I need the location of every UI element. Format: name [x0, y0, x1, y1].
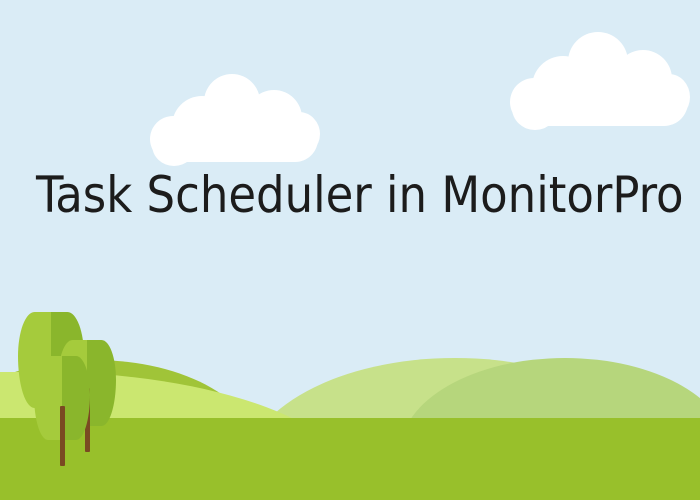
round-tree-icon — [34, 356, 90, 466]
title-slide: Task Scheduler in MonitorPro — [0, 0, 700, 500]
cloud-left-icon — [150, 68, 320, 163]
cloud-right-icon — [510, 28, 690, 126]
tree-trunk — [60, 406, 65, 466]
tree-foliage — [62, 356, 90, 440]
page-title: Task Scheduler in MonitorPro — [36, 166, 676, 224]
cloud-puff — [278, 112, 320, 156]
cloud-puff — [648, 74, 690, 120]
tree-foliage — [87, 340, 116, 426]
tree-foliage — [34, 356, 62, 440]
